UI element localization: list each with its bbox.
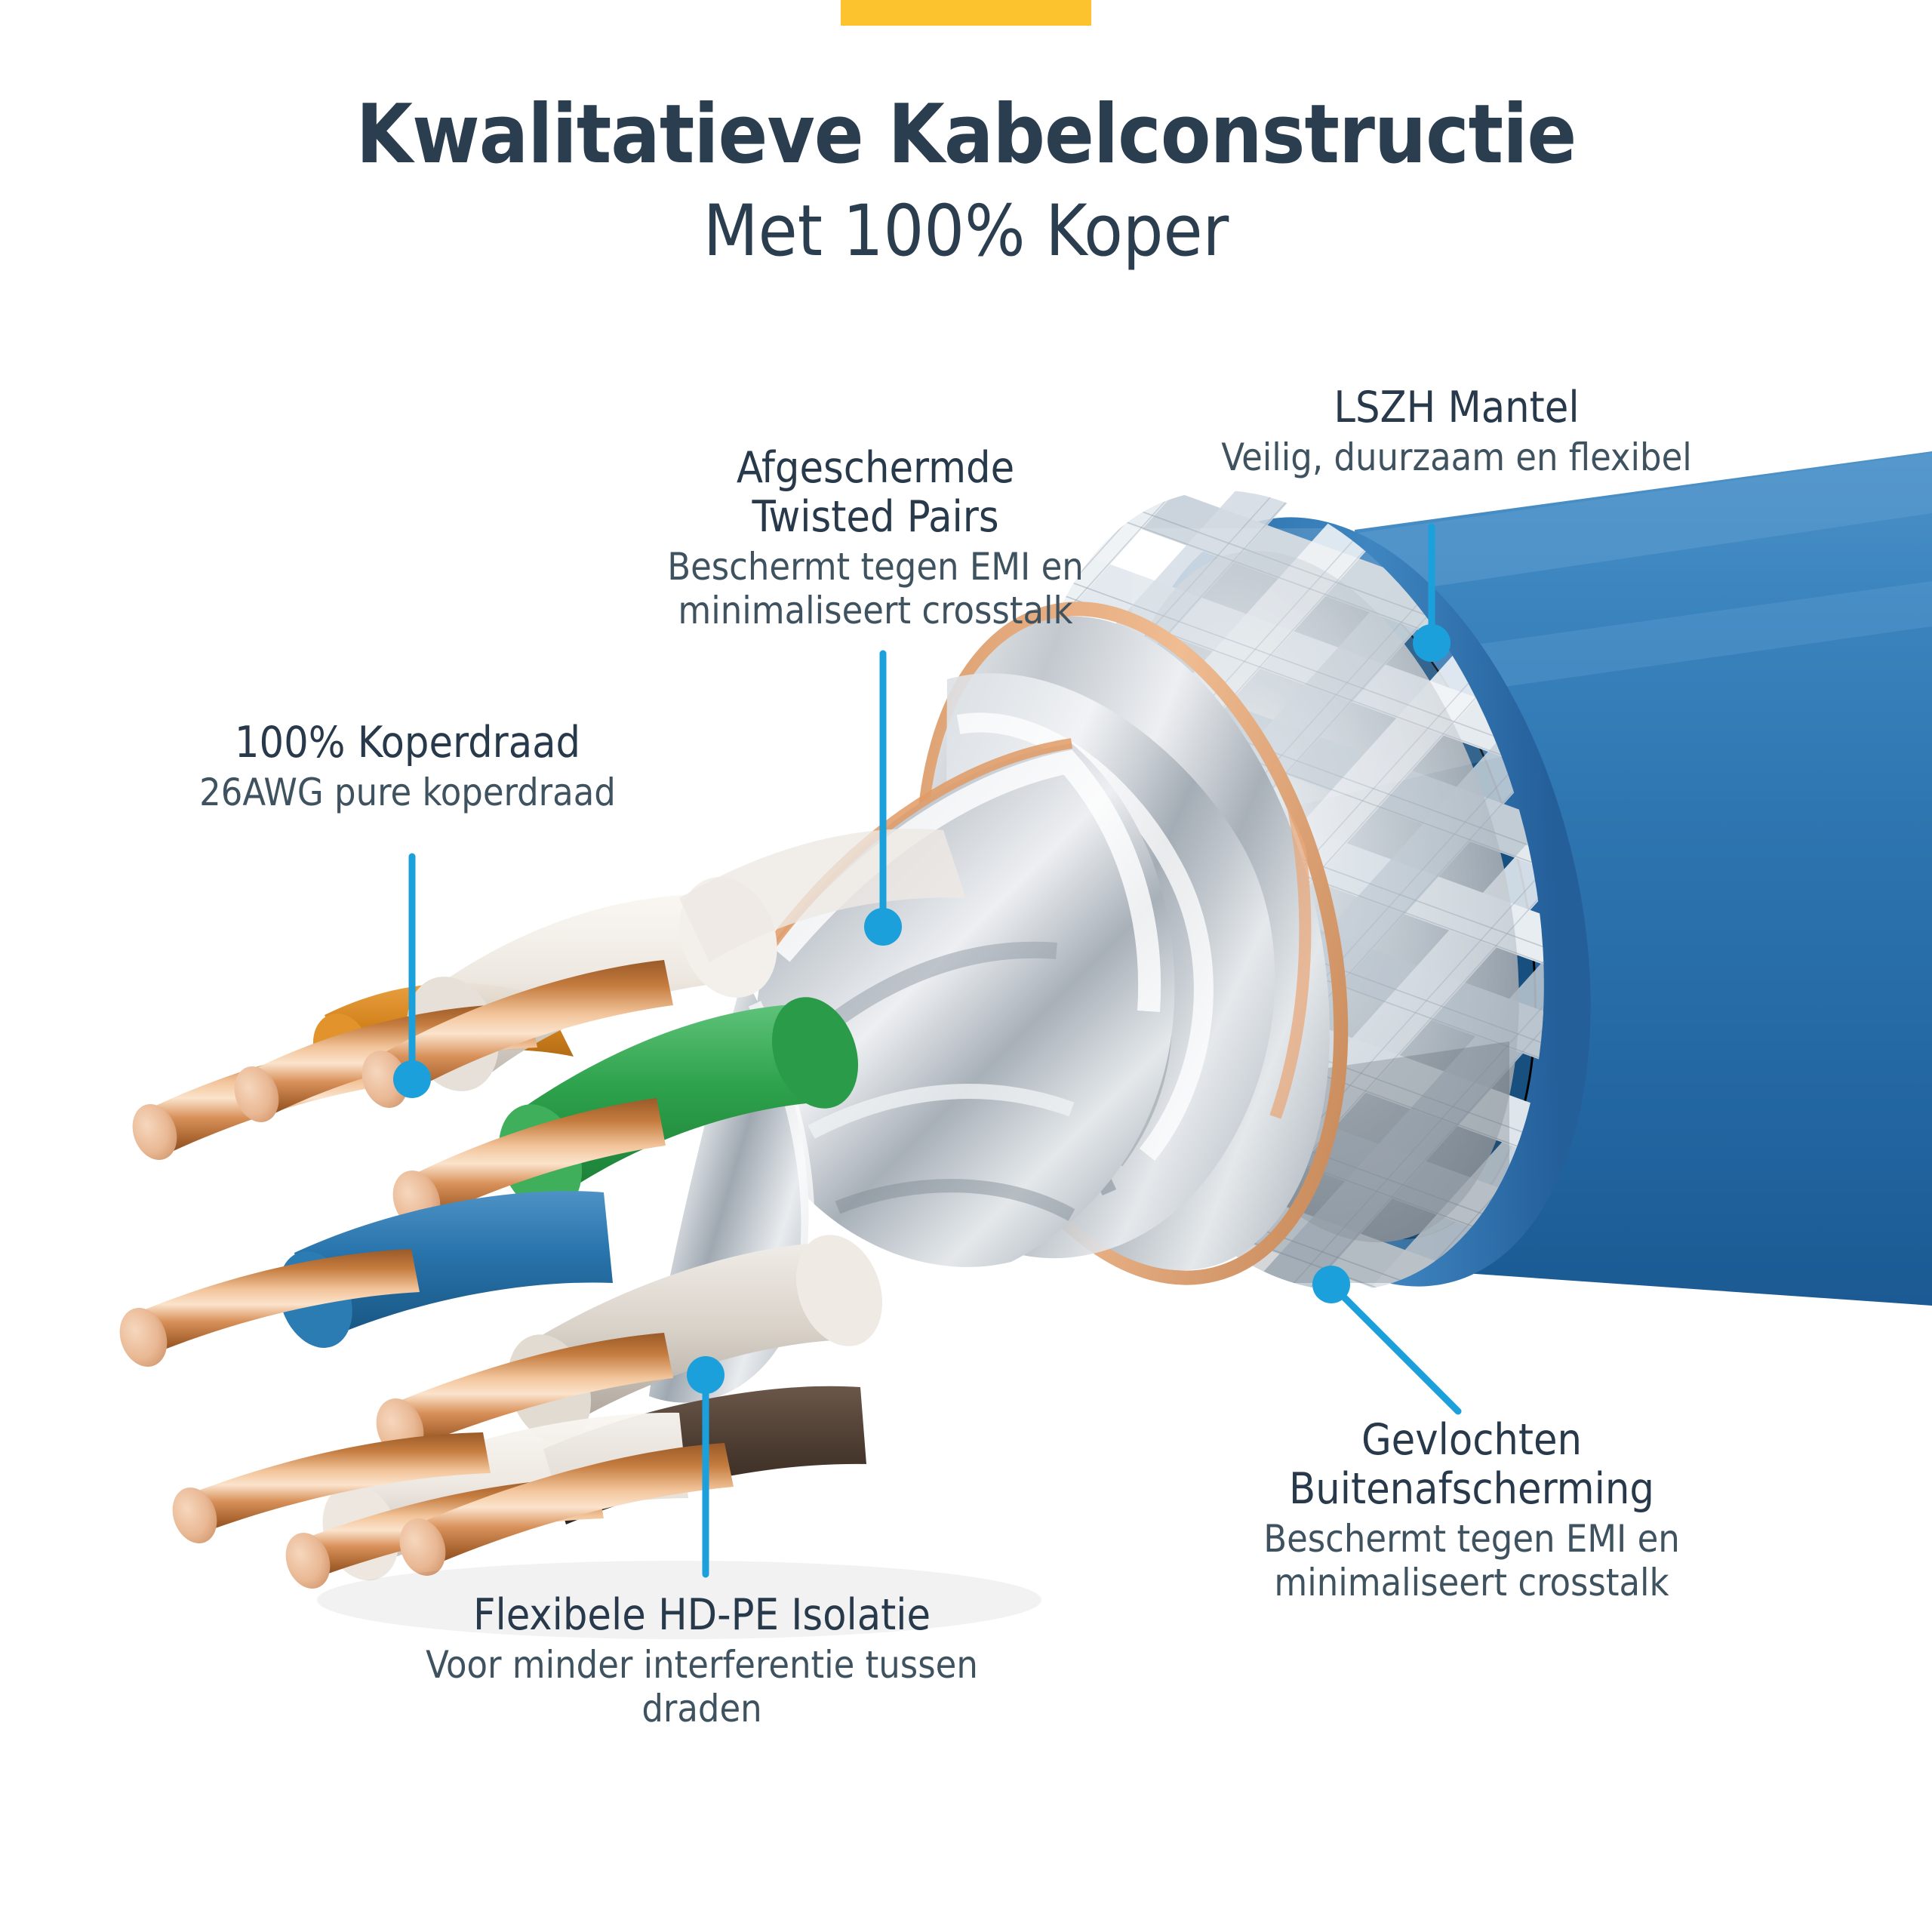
- callout-heading-line1: Flexibele HD-PE Isolatie: [362, 1591, 1041, 1640]
- callout-braided-outer-shield: Gevlochten Buitenafscherming Beschermt t…: [1177, 1416, 1766, 1604]
- callout-heading-line1: 100% Koperdraad: [121, 718, 694, 768]
- callout-subtext-line1: 26AWG pure koperdraad: [121, 771, 694, 814]
- callout-subtext-line1: Beschermt tegen EMI en: [589, 545, 1162, 589]
- callout-subtext-line1: Veilig, duurzaam en flexibel: [1147, 435, 1766, 479]
- callout-subtext-line2: minimaliseert crosstalk: [1177, 1561, 1766, 1604]
- callout-hdpe-insulation: Flexibele HD-PE Isolatie Voor minder int…: [362, 1591, 1041, 1730]
- callout-heading-line1: Afgeschermde: [589, 444, 1162, 493]
- callout-heading-line2: Twisted Pairs: [589, 493, 1162, 542]
- callout-shielded-twisted-pairs: Afgeschermde Twisted Pairs Beschermt teg…: [589, 444, 1162, 632]
- callout-subtext-line1: Beschermt tegen EMI en: [1177, 1517, 1766, 1561]
- callout-subtext-line1: Voor minder interferentie tussen: [362, 1643, 1041, 1687]
- callout-heading-line1: LSZH Mantel: [1147, 383, 1766, 432]
- callout-heading-line1: Gevlochten: [1177, 1416, 1766, 1465]
- callout-subtext-line2: minimaliseert crosstalk: [589, 589, 1162, 632]
- infographic-canvas: Kwalitatieve Kabelconstructie Met 100% K…: [0, 0, 1932, 1932]
- callout-lszh-jacket: LSZH Mantel Veilig, duurzaam en flexibel: [1147, 383, 1766, 479]
- callout-copper-conductor: 100% Koperdraad 26AWG pure koperdraad: [121, 718, 694, 814]
- callout-subtext-line2: draden: [362, 1687, 1041, 1730]
- callout-heading-line2: Buitenafscherming: [1177, 1465, 1766, 1514]
